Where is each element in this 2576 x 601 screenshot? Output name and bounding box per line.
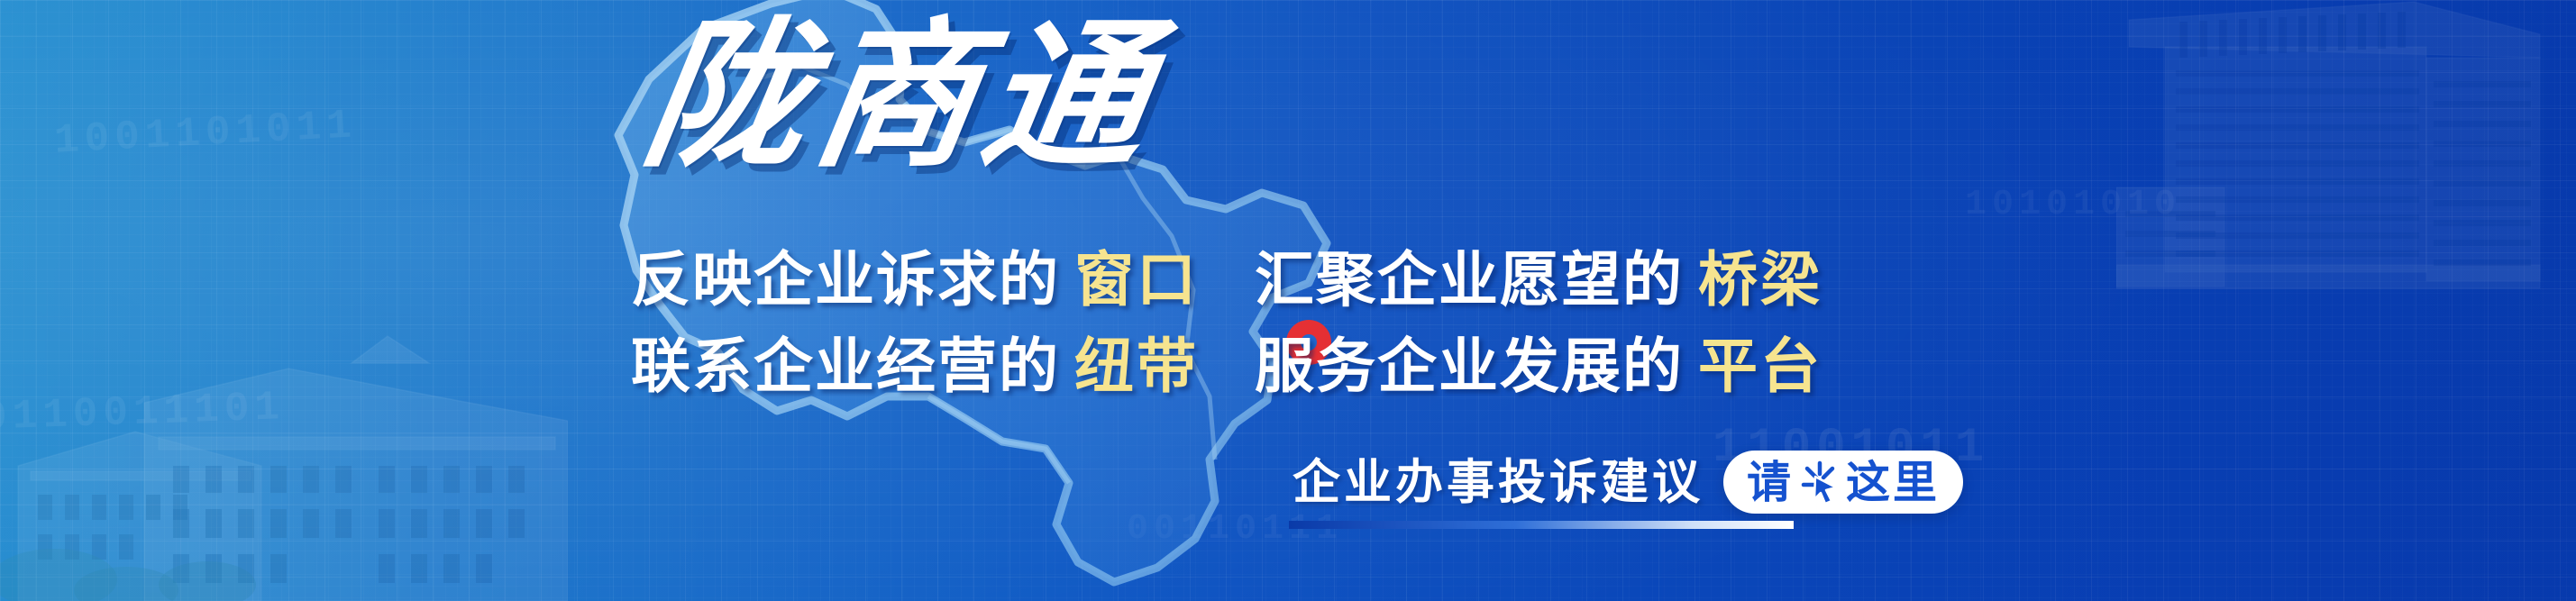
pill-prefix-label: 请 [1747,460,1794,505]
slogan-item: 反映企业诉求的 窗口 [631,250,1199,310]
slogan-highlight: 桥梁 [1698,250,1822,310]
slogan-row: 反映企业诉求的 窗口 汇聚企业愿望的 桥梁 [631,250,1983,337]
slogan-text: 汇聚企业愿望的 [1255,250,1684,310]
page-title: 陇商通 [635,16,1168,177]
slogan-item: 联系企业经营的 纽带 [631,337,1199,396]
slogan-highlight: 平台 [1698,337,1822,396]
slogan-text: 联系企业经营的 [631,337,1060,396]
slogan-item: 服务企业发展的 平台 [1255,337,1822,396]
slogan-item: 汇聚企业愿望的 桥梁 [1255,250,1822,310]
cta-underline-bar [1289,521,1794,529]
cta-label: 企业办事投诉建议 [1293,459,1704,506]
banner-root: 1001101011 0110011101 11001011 10101010 … [0,0,2576,601]
click-here-button[interactable]: 请 这里 [1723,451,1963,514]
slogan-row: 联系企业经营的 纽带 服务企业发展的 平台 [631,337,1983,423]
cta-block: 企业办事投诉建议 请 这里 [1293,451,1963,514]
slogan-highlight: 纽带 [1074,337,1199,396]
mouse-pointer-click-icon [1795,458,1844,506]
pill-suffix-label: 这里 [1846,460,1940,505]
slogan-text: 服务企业发展的 [1255,337,1684,396]
slogan-block: 反映企业诉求的 窗口 汇聚企业愿望的 桥梁 联系企业经营的 纽带 服务企业发展的… [631,250,1983,423]
banner-content: 陇商通 反映企业诉求的 窗口 汇聚企业愿望的 桥梁 联系企业经营的 纽带 服务企 [0,0,2576,601]
slogan-text: 反映企业诉求的 [631,250,1060,310]
slogan-highlight: 窗口 [1074,250,1199,310]
